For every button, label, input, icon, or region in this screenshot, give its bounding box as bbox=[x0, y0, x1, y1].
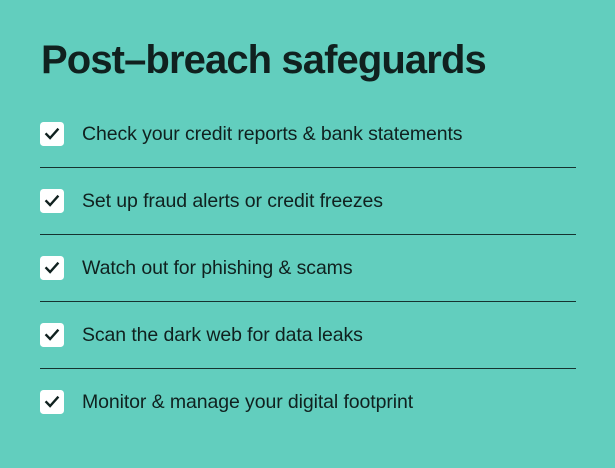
checkmark-icon bbox=[44, 193, 60, 209]
list-item-label: Scan the dark web for data leaks bbox=[82, 322, 363, 348]
list-item[interactable]: Scan the dark web for data leaks bbox=[40, 301, 576, 359]
checkbox-checked[interactable] bbox=[40, 189, 64, 213]
checkmark-icon bbox=[44, 260, 60, 276]
list-item[interactable]: Check your credit reports & bank stateme… bbox=[40, 110, 576, 158]
checkmark-icon bbox=[44, 327, 60, 343]
list-item[interactable]: Monitor & manage your digital footprint bbox=[40, 368, 576, 426]
page-title: Post–breach safeguards bbox=[41, 36, 486, 84]
checkmark-icon bbox=[44, 394, 60, 410]
checkbox-checked[interactable] bbox=[40, 256, 64, 280]
checkmark-icon bbox=[44, 126, 60, 142]
list-item[interactable]: Watch out for phishing & scams bbox=[40, 234, 576, 292]
safeguards-checklist: Check your credit reports & bank stateme… bbox=[40, 110, 576, 426]
checkbox-checked[interactable] bbox=[40, 122, 64, 146]
list-item[interactable]: Set up fraud alerts or credit freezes bbox=[40, 167, 576, 225]
list-item-label: Check your credit reports & bank stateme… bbox=[82, 121, 462, 147]
list-item-label: Monitor & manage your digital footprint bbox=[82, 389, 413, 415]
checkbox-checked[interactable] bbox=[40, 323, 64, 347]
list-item-label: Watch out for phishing & scams bbox=[82, 255, 352, 281]
post-breach-safeguards-card: Post–breach safeguards Check your credit… bbox=[0, 0, 615, 468]
list-item-label: Set up fraud alerts or credit freezes bbox=[82, 188, 383, 214]
checkbox-checked[interactable] bbox=[40, 390, 64, 414]
